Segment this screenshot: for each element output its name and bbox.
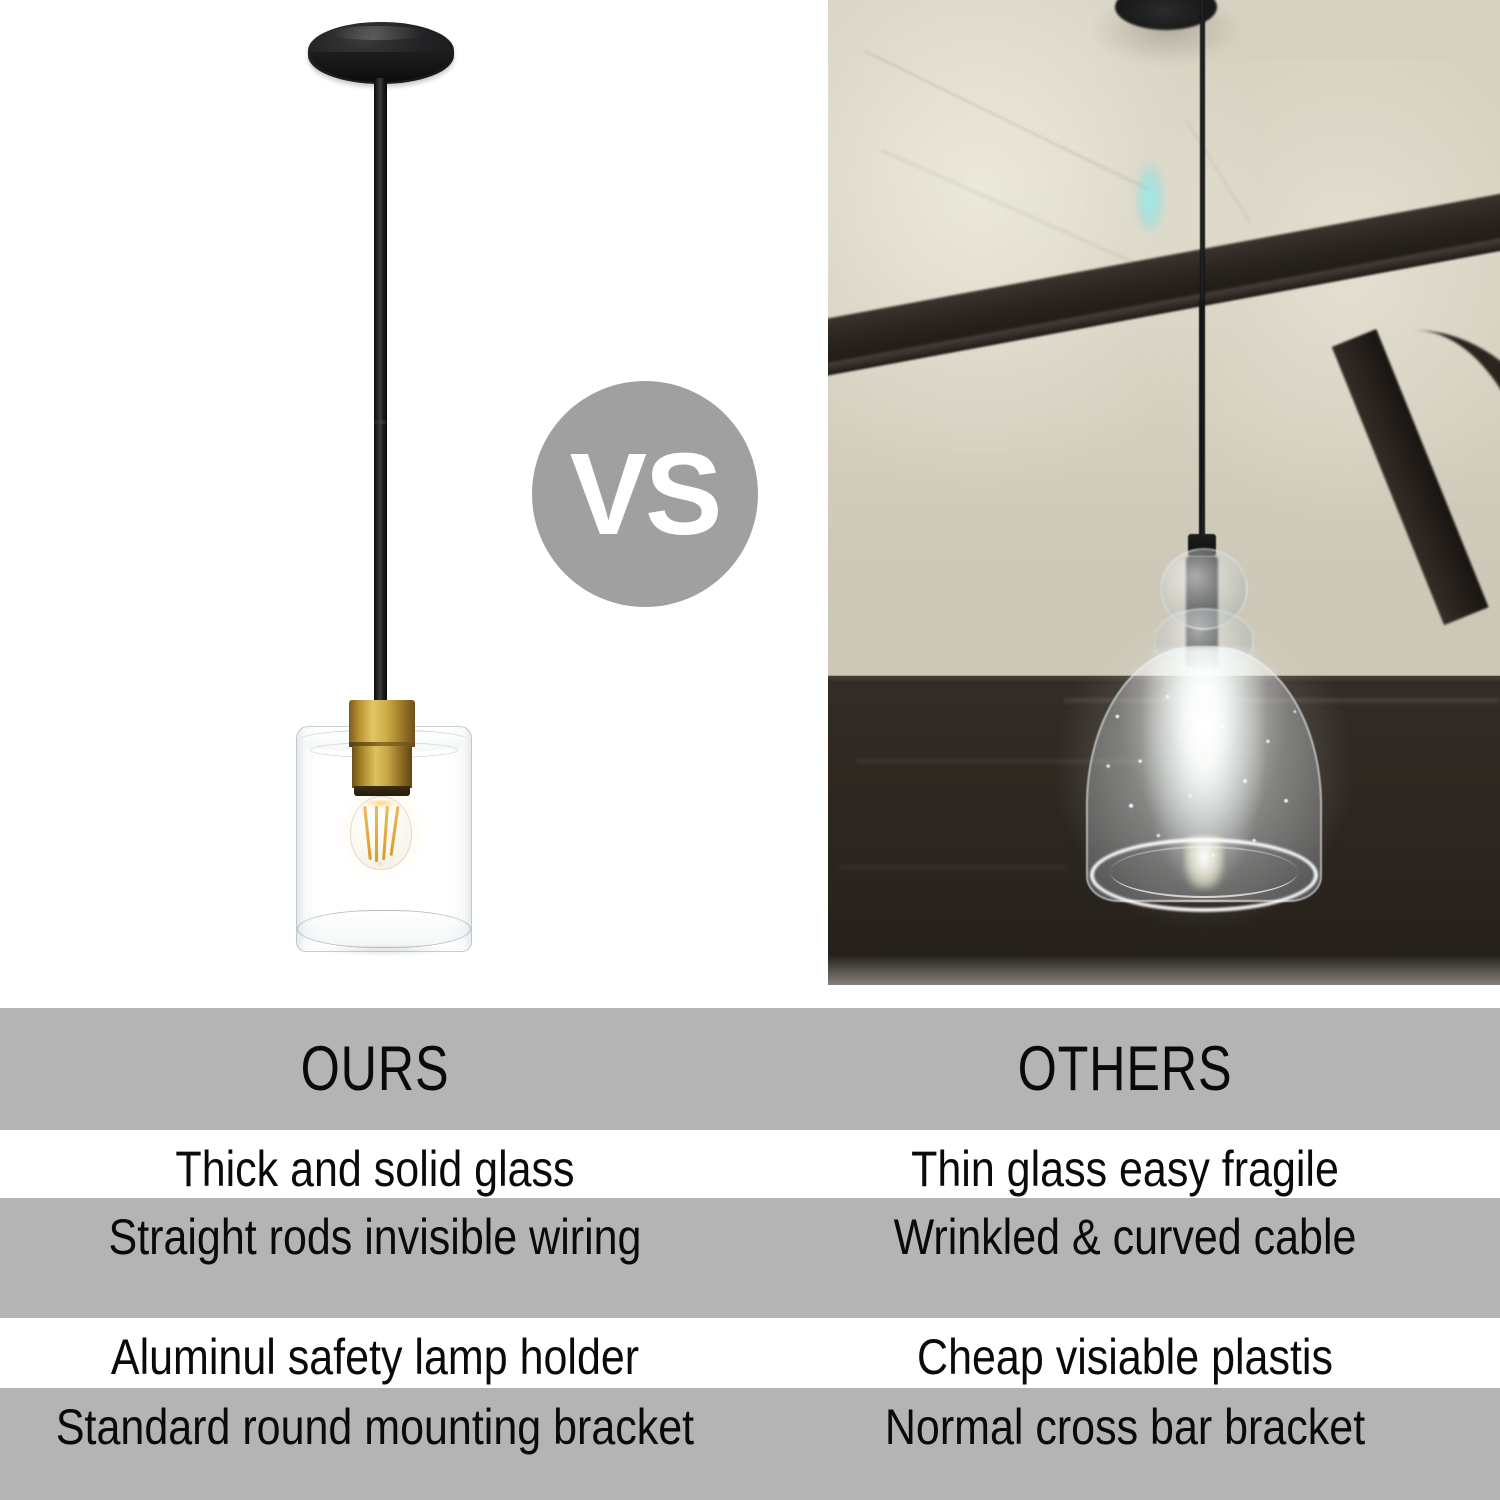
vs-label: VS	[570, 436, 721, 552]
table-row: Straight rods invisible wiring Wrinkled …	[0, 1198, 1500, 1318]
others-product-image	[828, 0, 1500, 985]
beam-brace-curve	[1384, 330, 1500, 580]
cell-others-2: Wrinkled & curved cable	[803, 1198, 1448, 1318]
canopy-highlight	[330, 26, 426, 40]
cell-others-4: Normal cross bar bracket	[803, 1388, 1448, 1500]
cell-others-1: Thin glass easy fragile	[803, 1130, 1448, 1198]
rod-joint	[374, 420, 387, 424]
pendant-rod	[374, 78, 387, 703]
cell-ours-4: Standard round mounting bracket	[53, 1388, 698, 1500]
imagery-area: VS	[0, 0, 1500, 1008]
column-header-ours: OURS	[75, 1008, 675, 1130]
photo-bottom-fade	[828, 955, 1500, 985]
comparison-table: OURS OTHERS Thick and solid glass Thin g…	[0, 1008, 1500, 1500]
cell-ours-2: Straight rods invisible wiring	[53, 1198, 698, 1318]
cell-ours-3: Aluminul safety lamp holder	[53, 1318, 698, 1388]
teal-flare-icon	[1135, 160, 1165, 230]
table-row: Aluminul safety lamp holder Cheap visiab…	[0, 1318, 1500, 1388]
shade-bottom-rim	[297, 910, 471, 948]
shade-gloss-left	[312, 756, 323, 924]
comparison-infographic: VS	[0, 0, 1500, 1500]
brass-socket-lower	[352, 746, 412, 788]
cell-ours-1: Thick and solid glass	[53, 1130, 698, 1198]
column-header-others: OTHERS	[825, 1008, 1425, 1130]
table-row: Thick and solid glass Thin glass easy fr…	[0, 1130, 1500, 1198]
wall-grain	[838, 866, 1068, 869]
cell-others-3: Cheap visiable plastis	[803, 1318, 1448, 1388]
shade-gloss-right	[444, 756, 457, 924]
bell-rim	[1090, 838, 1318, 912]
shade-drop-shadow	[316, 944, 452, 956]
filament-strand	[375, 806, 378, 862]
filament-crown	[364, 800, 398, 808]
table-row: Standard round mounting bracket Normal c…	[0, 1388, 1500, 1500]
table-header-row: OURS OTHERS	[0, 1008, 1500, 1130]
bulb-tip	[377, 860, 384, 868]
socket-base	[354, 786, 410, 796]
vs-badge: VS	[532, 381, 758, 607]
brass-socket-upper	[349, 700, 415, 744]
